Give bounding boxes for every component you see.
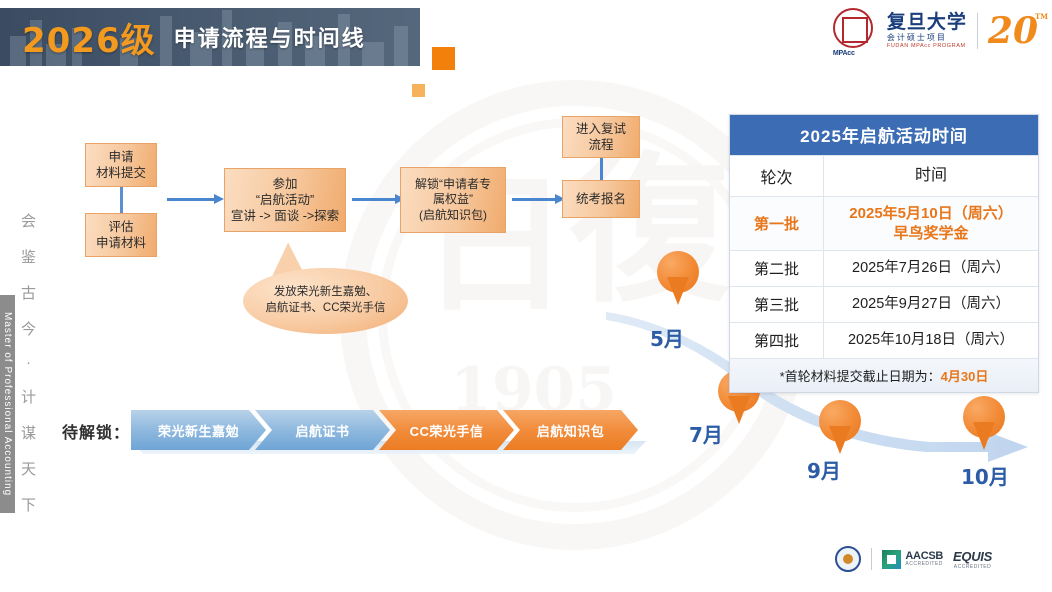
cell-date: 2025年9月27日（周六）	[824, 287, 1038, 322]
program-name-en: FUDAN MPAcc PROGRAM	[887, 43, 967, 49]
camea-seal-icon	[835, 546, 861, 572]
slide-canvas: 日 復 1905 2026级 申请流程与时间线	[0, 0, 1052, 592]
slogan-char: 下	[21, 494, 37, 515]
cell-round: 第四批	[730, 323, 824, 358]
flow-box-exam-signup: 统考报名	[562, 180, 640, 218]
slogan-char: 谋	[21, 422, 37, 443]
table-row: 第一批 2025年5月10日（周六）早鸟奖学金	[730, 196, 1038, 250]
cell-round: 第三批	[730, 287, 824, 322]
flow-box-interview: 进入复试流程	[562, 116, 640, 158]
cell-date: 2025年7月26日（周六）	[824, 251, 1038, 286]
university-name-cn: 复旦大学	[887, 13, 967, 33]
schedule-table: 2025年启航活动时间 轮次 时间 第一批 2025年5月10日（周六）早鸟奖学…	[729, 114, 1039, 393]
slogan-char: 计	[21, 386, 37, 407]
side-bar-label: Master of Professional Accounting	[2, 312, 13, 496]
decoration-square-small	[412, 84, 425, 97]
banner-year-label: 2026级	[22, 13, 156, 62]
equis-logo: EQUIS ACCREDITED	[953, 549, 992, 570]
anniversary-number: 20	[988, 10, 1038, 52]
equis-name: EQUIS	[953, 549, 992, 564]
flow-box-unlock: 解锁“申请者专属权益”(启航知识包)	[400, 167, 506, 233]
slogan-char: 天	[21, 458, 37, 479]
flow-box-activity: 参加“启航活动”宣讲 -> 面谈 ->探索	[224, 168, 346, 232]
table-row: 第四批 2025年10月18日（周六）	[730, 322, 1038, 358]
timeline-month-4: 10月	[961, 461, 1009, 490]
schedule-note-deadline: 4月30日	[941, 369, 989, 384]
mpacc-tag-label: MPAcc	[833, 50, 855, 57]
unlock-chevron-2[interactable]: 启航证书	[255, 410, 390, 450]
footer-divider	[871, 548, 872, 570]
unlock-chevron-1[interactable]: 荣光新生嘉勉	[131, 410, 266, 450]
decoration-square-large	[432, 47, 455, 70]
timeline-pin-3	[819, 400, 861, 454]
schedule-note-prefix: *首轮材料提交截止日期为：	[780, 369, 941, 384]
timeline-month-1: 5月	[650, 323, 684, 352]
cell-date: 2025年10月18日（周六）	[824, 323, 1038, 358]
slogan-char: 今	[21, 318, 37, 339]
callout-bubble: 发放荣光新生嘉勉、启航证书、CC荣光手信	[243, 268, 408, 334]
anniversary-mark: 20TM	[988, 13, 1038, 49]
aacsb-sub: ACCREDITED	[905, 562, 943, 567]
slogan-char: 会	[21, 210, 37, 231]
cell-round: 第二批	[730, 251, 824, 286]
unlock-chevron-3[interactable]: CC荣光手信	[379, 410, 514, 450]
timeline-month-2: 7月	[689, 419, 723, 448]
schedule-note: *首轮材料提交截止日期为：4月30日	[730, 358, 1038, 392]
aacsb-logo: AACSB ACCREDITED	[882, 550, 943, 569]
timeline-pin-4	[963, 396, 1005, 450]
page-title: 申请流程与时间线	[174, 21, 366, 53]
header-banner: 2026级 申请流程与时间线	[0, 8, 420, 66]
table-row: 第三批 2025年9月27日（周六）	[730, 286, 1038, 322]
column-header-date: 时间	[824, 156, 1038, 196]
side-vertical-bar: Master of Professional Accounting	[0, 295, 15, 513]
slogan-char: ·	[26, 354, 32, 371]
logo-divider	[977, 13, 978, 49]
slogan-char: 鉴	[21, 246, 37, 267]
slogan-char: 古	[21, 282, 37, 303]
brand-logos: MPAcc 复旦大学 会计硕士项目 FUDAN MPAcc PROGRAM 20…	[833, 8, 1038, 54]
unlock-chevron-4[interactable]: 启航知识包	[503, 410, 638, 450]
trademark-symbol: TM	[1035, 13, 1048, 20]
column-header-round: 轮次	[730, 156, 824, 196]
program-name-cn: 会计硕士项目	[887, 33, 967, 43]
aacsb-mark-icon	[882, 550, 901, 569]
unlock-strip-label: 待解锁：	[62, 419, 130, 443]
flow-box-evaluate: 评估申请材料	[85, 213, 157, 257]
flow-connector-vertical	[120, 187, 123, 213]
schedule-table-title: 2025年启航活动时间	[730, 115, 1038, 155]
timeline-pin-1	[657, 251, 699, 305]
timeline-month-3: 9月	[807, 455, 841, 484]
mpacc-seal-icon: MPAcc	[833, 8, 879, 54]
accreditation-logos: AACSB ACCREDITED EQUIS ACCREDITED	[835, 546, 992, 572]
flow-box-apply-submit: 申请材料提交	[85, 143, 157, 187]
cell-round: 第一批	[730, 197, 824, 250]
flow-arrow-2	[352, 198, 396, 201]
flow-arrow-3	[512, 198, 556, 201]
flow-arrow-1	[167, 198, 215, 201]
cell-date: 2025年5月10日（周六）早鸟奖学金	[824, 197, 1038, 250]
side-slogan: 会 鉴 古 今 · 计 谋 天 下	[16, 210, 42, 515]
equis-sub: ACCREDITED	[953, 564, 992, 570]
table-row: 第二批 2025年7月26日（周六）	[730, 250, 1038, 286]
table-header-row: 轮次 时间	[730, 155, 1038, 196]
flow-arrow-4	[600, 157, 603, 181]
